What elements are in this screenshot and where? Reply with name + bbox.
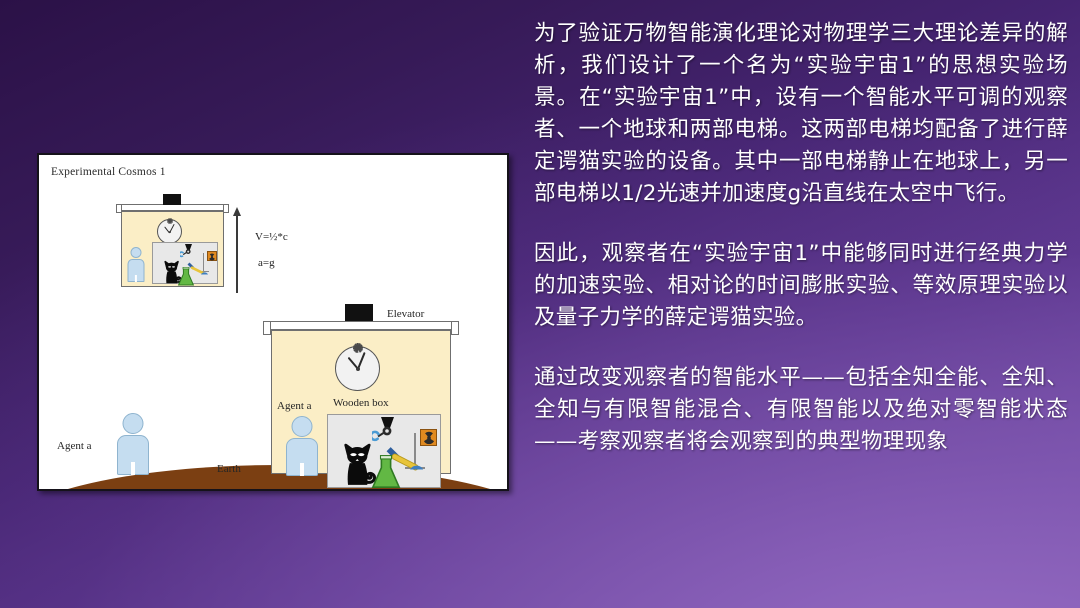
figure-title: Experimental Cosmos 1 xyxy=(51,166,166,178)
elevator-roof-tab-right xyxy=(451,321,459,335)
wooden-box xyxy=(327,414,441,488)
person-icon xyxy=(286,416,318,476)
clock-icon xyxy=(335,346,380,391)
wooden-box xyxy=(152,242,218,284)
acceleration-formula: a=g xyxy=(258,257,275,269)
agent-ground-label: Agent a xyxy=(57,440,92,452)
person-icon xyxy=(127,247,144,282)
paragraph-1: 为了验证万物智能演化理论对物理学三大理论差异的解析，我们设计了一个名为“实验宇宙… xyxy=(534,18,1068,210)
flask-icon xyxy=(370,455,402,491)
radioactive-hazard-icon xyxy=(420,429,437,446)
clock-icon xyxy=(157,219,182,244)
wooden-box-label: Wooden box xyxy=(333,397,389,409)
elevator-roof-tab-left xyxy=(116,204,122,213)
person-icon xyxy=(117,413,149,475)
velocity-formula: V=½*c xyxy=(255,231,288,243)
elevator-motor-icon xyxy=(163,194,181,205)
elevator-label: Elevator xyxy=(387,308,424,320)
body-text-column: 为了验证万物智能演化理论对物理学三大理论差异的解析，我们设计了一个名为“实验宇宙… xyxy=(534,18,1068,486)
figure-panel: Experimental Cosmos 1 Earth xyxy=(37,153,509,491)
elevator-roof-tab-right xyxy=(223,204,229,213)
presentation-slide: Experimental Cosmos 1 Earth xyxy=(0,0,1080,608)
flying-elevator xyxy=(121,211,224,287)
elevator-roof-tab-left xyxy=(263,321,271,335)
paragraph-3: 通过改变观察者的智能水平——包括全知全能、全知、全知与有限智能混合、有限智能以及… xyxy=(534,362,1068,458)
grounded-elevator: Agent a Wooden box xyxy=(271,330,451,474)
up-arrow-icon xyxy=(236,215,238,293)
earth-label: Earth xyxy=(217,463,241,475)
paragraph-2: 因此，观察者在“实验宇宙1”中能够同时进行经典力学的加速实验、相对论的时间膨胀实… xyxy=(534,238,1068,334)
agent-elevator-label: Agent a xyxy=(277,400,312,412)
radioactive-hazard-icon xyxy=(207,251,217,261)
elevator-roof xyxy=(116,204,229,211)
elevator-roof xyxy=(263,321,459,330)
flask-icon xyxy=(177,267,195,292)
up-arrow-head-icon xyxy=(233,207,241,216)
elevator-motor-icon xyxy=(345,304,373,321)
